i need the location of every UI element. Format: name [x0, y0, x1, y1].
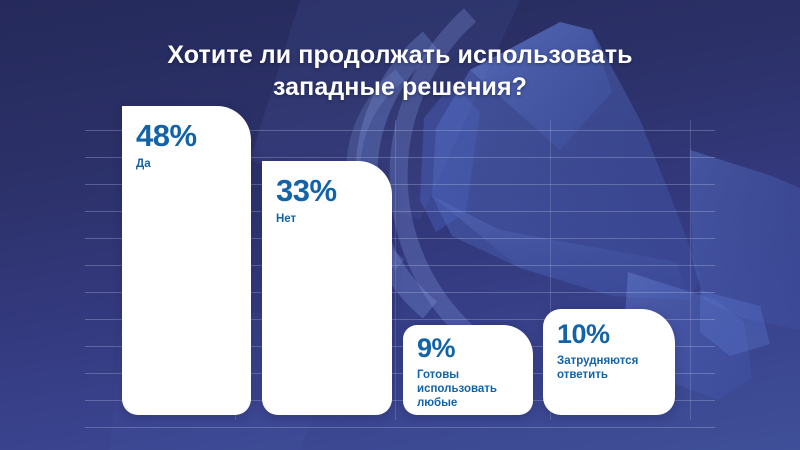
bar-label-gotovy: Готовы использовать любые: [417, 368, 527, 410]
bar-label-zatrudnyayutsya: Затрудняются ответить: [557, 354, 669, 382]
bar-value-gotovy: 9%: [417, 335, 533, 363]
bar-chart: 48% Да 33% Нет 9% Готовы использовать лю…: [0, 0, 800, 450]
bar-da: 48% Да: [122, 106, 251, 415]
bar-gotovy: 9% Готовы использовать любые: [403, 325, 533, 415]
bar-value-da: 48%: [136, 120, 251, 152]
bar-value-net: 33%: [276, 175, 392, 207]
bar-value-zatrudnyayutsya: 10%: [557, 321, 675, 349]
infographic-poster: Хотите ли продолжать использовать западн…: [0, 0, 800, 450]
bar-net: 33% Нет: [262, 161, 392, 415]
bar-zatrudnyayutsya: 10% Затрудняются ответить: [543, 309, 675, 415]
bar-label-net: Нет: [276, 212, 380, 226]
bar-label-da: Да: [136, 157, 240, 171]
